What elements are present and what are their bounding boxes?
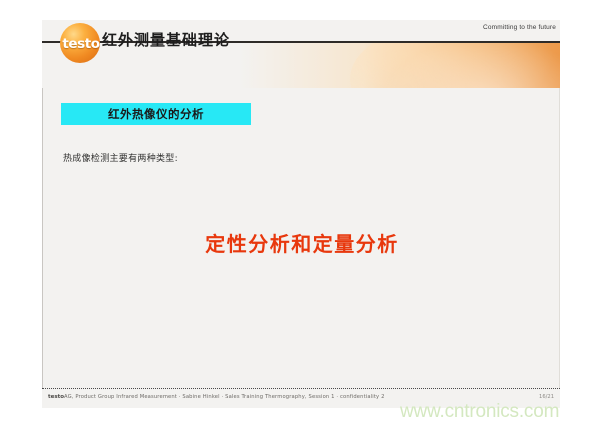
company-tagline: Committing to the future xyxy=(483,24,556,31)
footer-credit-text: AG, Product Group Infrared Measurement ·… xyxy=(64,394,385,400)
section-banner: 红外热像仪的分析 xyxy=(61,103,251,125)
section-banner-label: 红外热像仪的分析 xyxy=(61,106,251,122)
emphasis-statement: 定性分析和定量分析 xyxy=(43,228,561,257)
presentation-slide: Committing to the future testo 红外测量基础理论 … xyxy=(42,20,560,408)
site-watermark: www.cntronics.com xyxy=(400,401,559,423)
footer-logo-wordmark: testo xyxy=(48,394,64,400)
body-paragraph: 热成像检测主要有两种类型: xyxy=(63,151,178,164)
slide-body: 红外热像仪的分析 热成像检测主要有两种类型: 定性分析和定量分析 xyxy=(42,88,560,388)
slide-header: Committing to the future testo 红外测量基础理论 xyxy=(42,20,560,88)
slide-title: 红外测量基础理论 xyxy=(102,29,230,50)
logo-wordmark: testo xyxy=(58,36,104,52)
footer-page-number: 16/21 xyxy=(539,394,554,400)
testo-logo: testo xyxy=(60,23,100,63)
footer-divider xyxy=(42,388,560,389)
orange-swirl-graphic xyxy=(350,43,560,88)
